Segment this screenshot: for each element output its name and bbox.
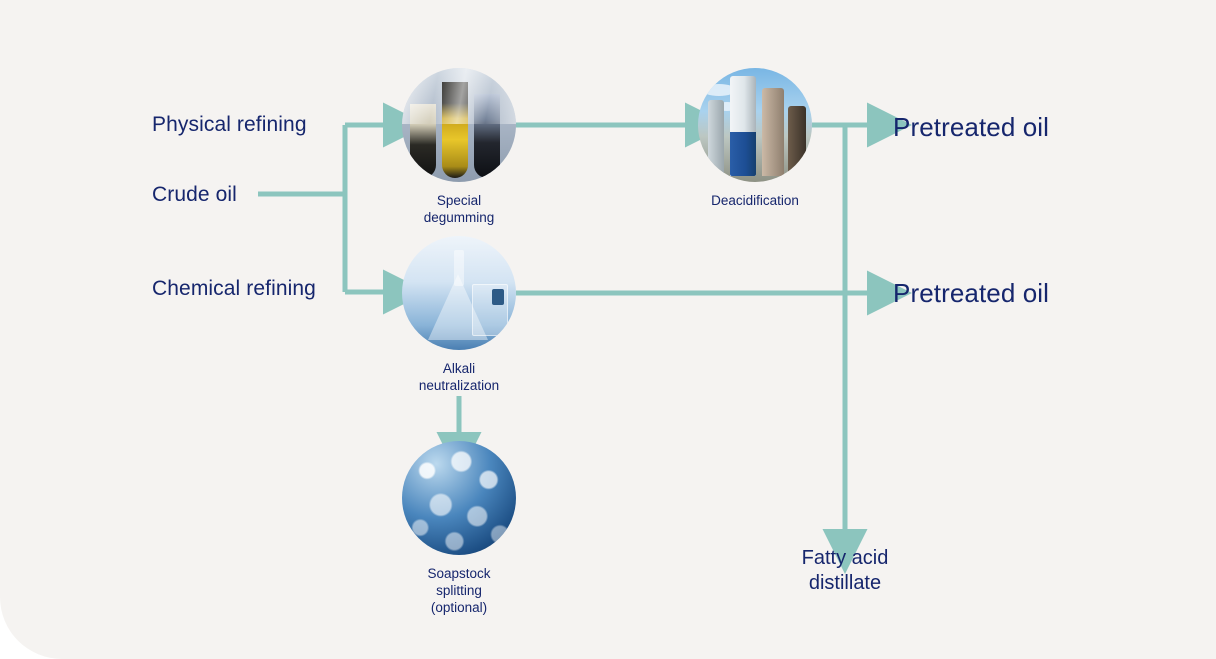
special-degumming-image: [402, 68, 516, 182]
node-special-degumming[interactable]: Special degumming: [402, 68, 516, 226]
output-label-pretreated-oil-bottom: Pretreated oil: [893, 278, 1049, 309]
input-label-physical-refining: Physical refining: [152, 113, 307, 137]
deacidification-caption: Deacidification: [698, 192, 812, 209]
node-deacidification[interactable]: Deacidification: [698, 68, 812, 209]
special-degumming-caption: Special degumming: [402, 192, 516, 226]
soapstock-splitting-caption: Soapstock splitting (optional): [402, 565, 516, 616]
node-alkali-neutralization[interactable]: Alkali neutralization: [402, 236, 516, 394]
process-flow-diagram: Physical refining Crude oil Chemical ref…: [0, 0, 1216, 659]
input-label-crude-oil: Crude oil: [152, 183, 237, 207]
node-soapstock-splitting[interactable]: Soapstock splitting (optional): [402, 441, 516, 616]
output-label-pretreated-oil-top: Pretreated oil: [893, 112, 1049, 143]
soapstock-splitting-image: [402, 441, 516, 555]
alkali-neutralization-image: [402, 236, 516, 350]
alkali-neutralization-caption: Alkali neutralization: [402, 360, 516, 394]
flow-connectors: [0, 0, 1216, 659]
input-label-chemical-refining: Chemical refining: [152, 277, 316, 301]
deacidification-image: [698, 68, 812, 182]
output-label-fatty-acid-distillate: Fatty acid distillate: [745, 546, 945, 596]
